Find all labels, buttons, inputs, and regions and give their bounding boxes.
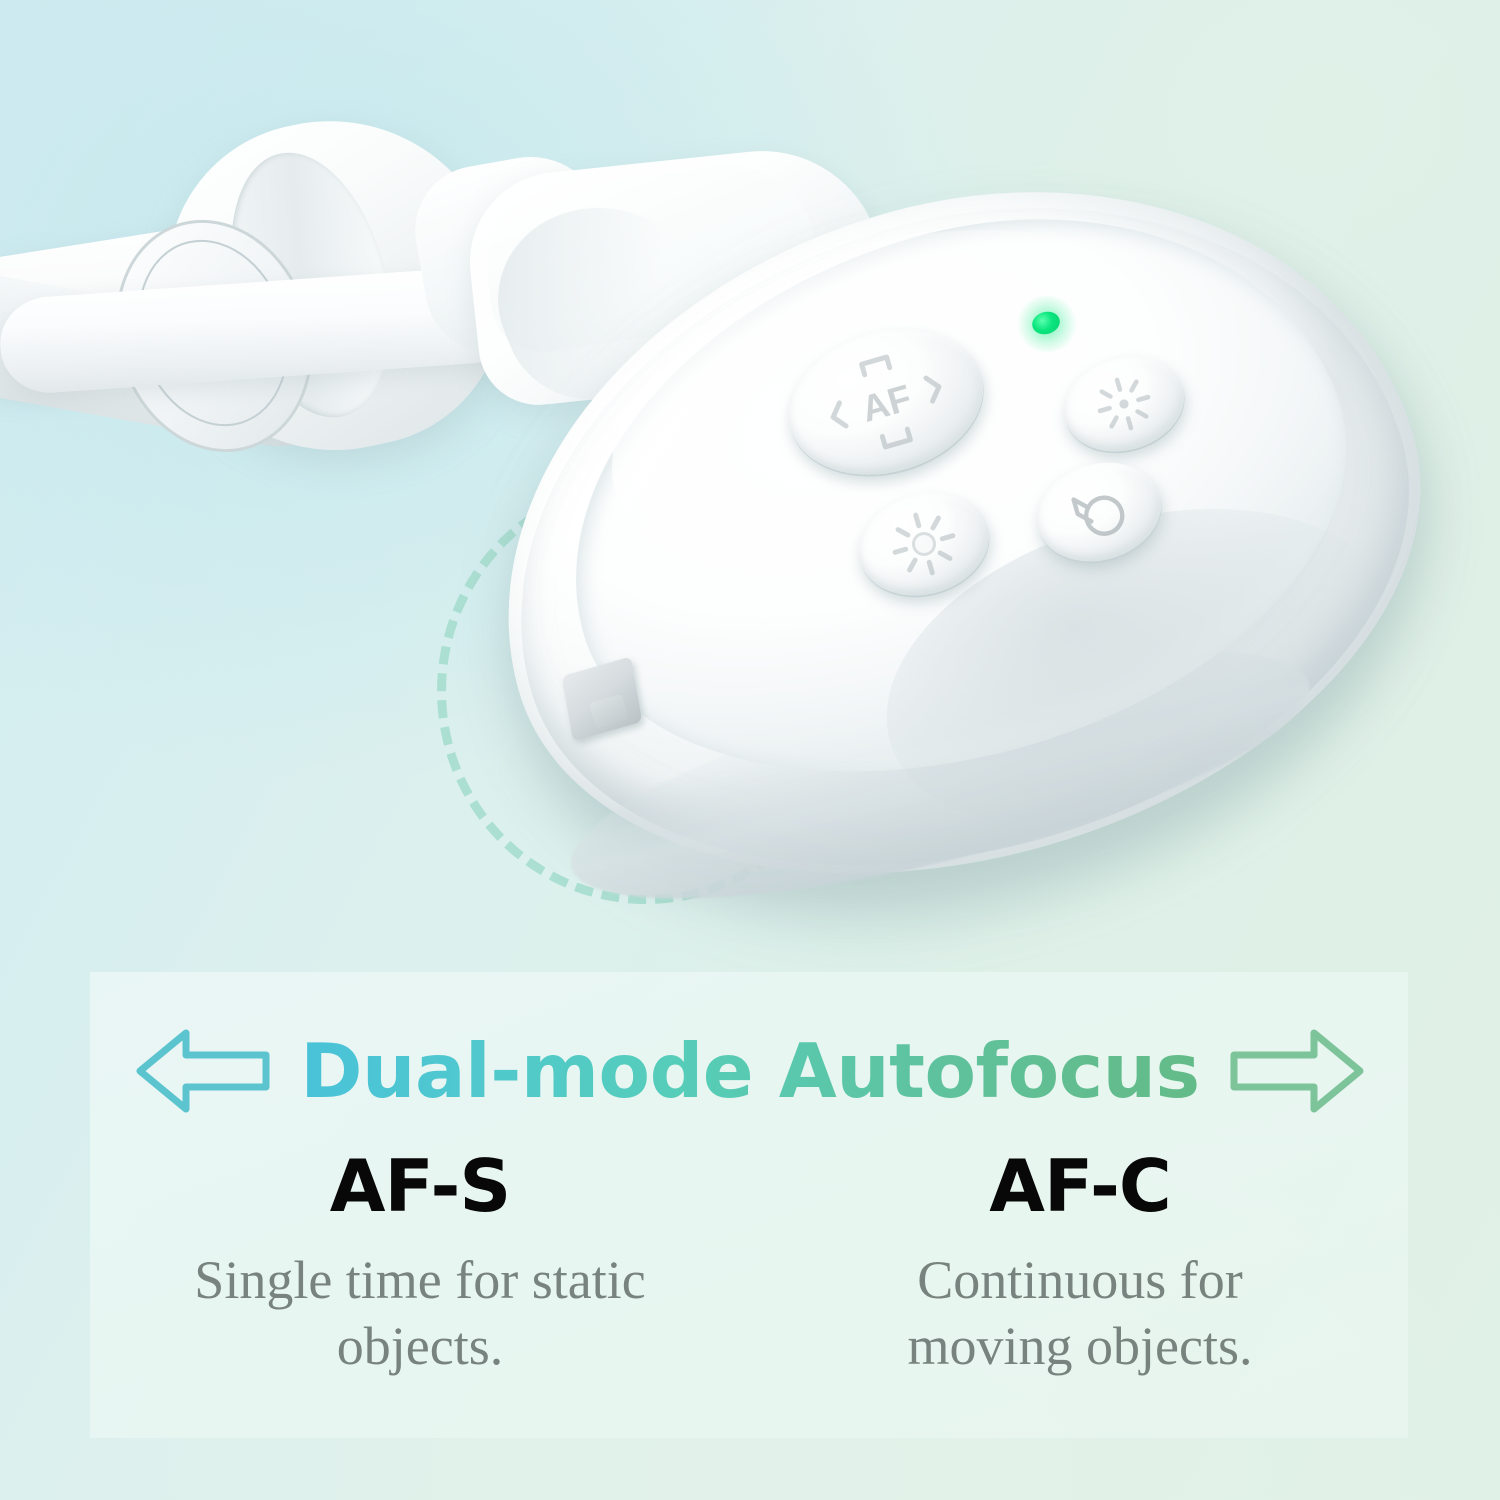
arrow-right-icon bbox=[1228, 1025, 1366, 1117]
sun-rays-icon bbox=[1086, 366, 1163, 443]
product-photo: AF bbox=[0, 0, 1500, 980]
arrow-left-icon bbox=[134, 1025, 272, 1117]
headline-row: Dual-mode Autofocus bbox=[90, 1012, 1410, 1130]
page-title: Dual-mode Autofocus bbox=[300, 1034, 1199, 1109]
mode-columns: AF-S Single time for static objects. AF-… bbox=[90, 1148, 1410, 1438]
sun-filled-icon bbox=[882, 502, 966, 586]
mode-description-af-c: Continuous for moving objects. bbox=[845, 1248, 1315, 1380]
mode-description-af-s: Single time for static objects. bbox=[185, 1248, 655, 1380]
mode-column-af-c: AF-C Continuous for moving objects. bbox=[750, 1148, 1410, 1438]
mode-title-af-c: AF-C bbox=[989, 1148, 1170, 1224]
svg-text:AF: AF bbox=[857, 377, 916, 430]
product-feature-image: AF bbox=[0, 0, 1500, 1500]
shutter-magnifier-icon bbox=[1059, 473, 1140, 551]
mode-title-af-s: AF-S bbox=[330, 1148, 510, 1224]
mode-column-af-s: AF-S Single time for static objects. bbox=[90, 1148, 750, 1438]
